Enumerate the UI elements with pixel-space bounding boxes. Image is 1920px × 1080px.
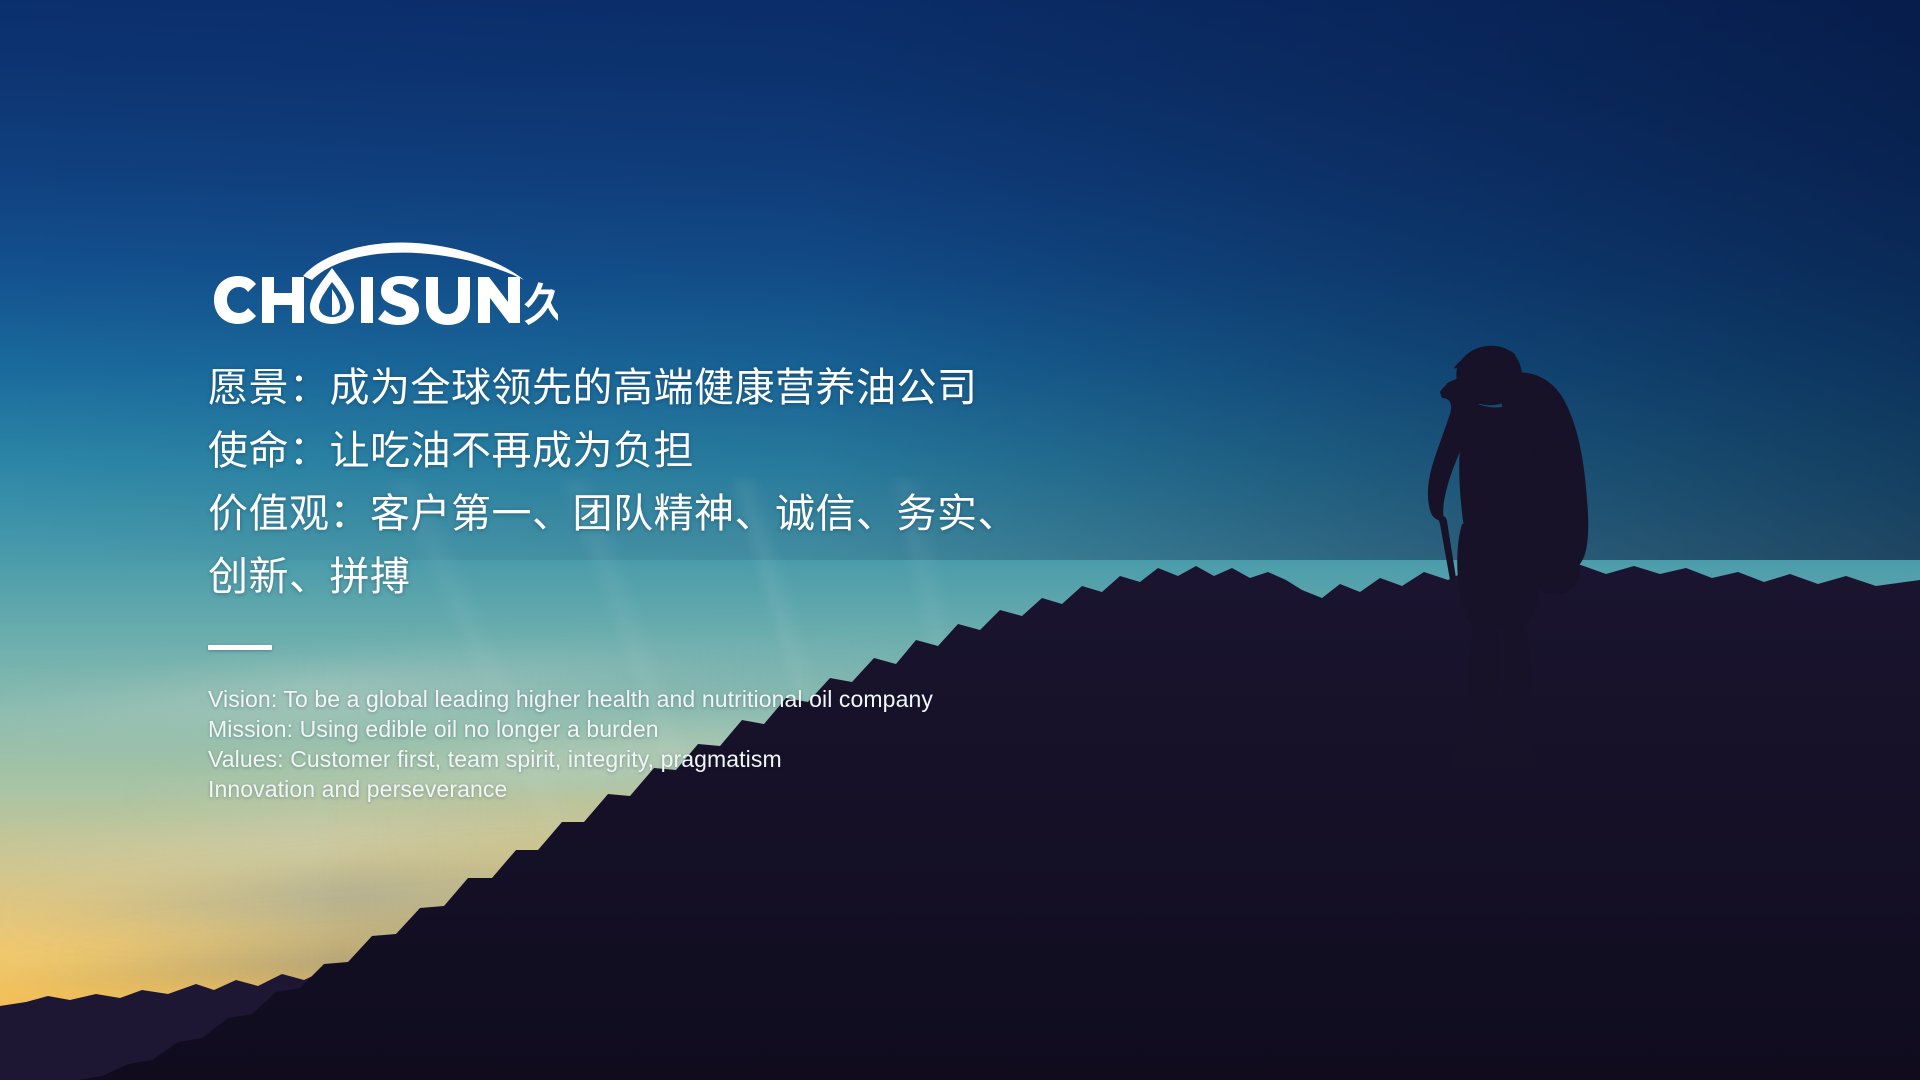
mission-line-cn: 使命：让吃油不再成为负担 (208, 420, 1328, 483)
english-statements: Vision: To be a global leading higher he… (208, 684, 1328, 804)
logo-artwork: 久晟 (208, 240, 558, 325)
values-line-cn-continued: 创新、拼搏 (208, 546, 1328, 609)
values-line-en: Values: Customer first, team spirit, int… (208, 744, 1328, 774)
mission-line-en: Mission: Using edible oil no longer a bu… (208, 714, 1328, 744)
vision-line-cn: 愿景：成为全球领先的高端健康营养油公司 (208, 357, 1328, 420)
section-divider (208, 645, 272, 650)
company-logo[interactable]: 久晟 CHOISUN 久晟 (208, 240, 558, 325)
vision-line-en: Vision: To be a global leading higher he… (208, 684, 1328, 714)
logo-chinese-characters: 久晟 (524, 280, 558, 325)
hiker-silhouette (1384, 338, 1624, 778)
chinese-statements: 愿景：成为全球领先的高端健康营养油公司 使命：让吃油不再成为负担 价值观：客户第… (208, 357, 1328, 609)
values-line-en-continued: Innovation and perseverance (208, 774, 1328, 804)
slide-canvas: 久晟 CHOISUN 久晟 愿景：成为全球领先的高端健康营养油公司 使命：让吃油… (0, 0, 1920, 1080)
values-line-cn: 价值观：客户第一、团队精神、诚信、务实、 (208, 483, 1328, 546)
content-block: 久晟 CHOISUN 久晟 愿景：成为全球领先的高端健康营养油公司 使命：让吃油… (208, 240, 1328, 804)
